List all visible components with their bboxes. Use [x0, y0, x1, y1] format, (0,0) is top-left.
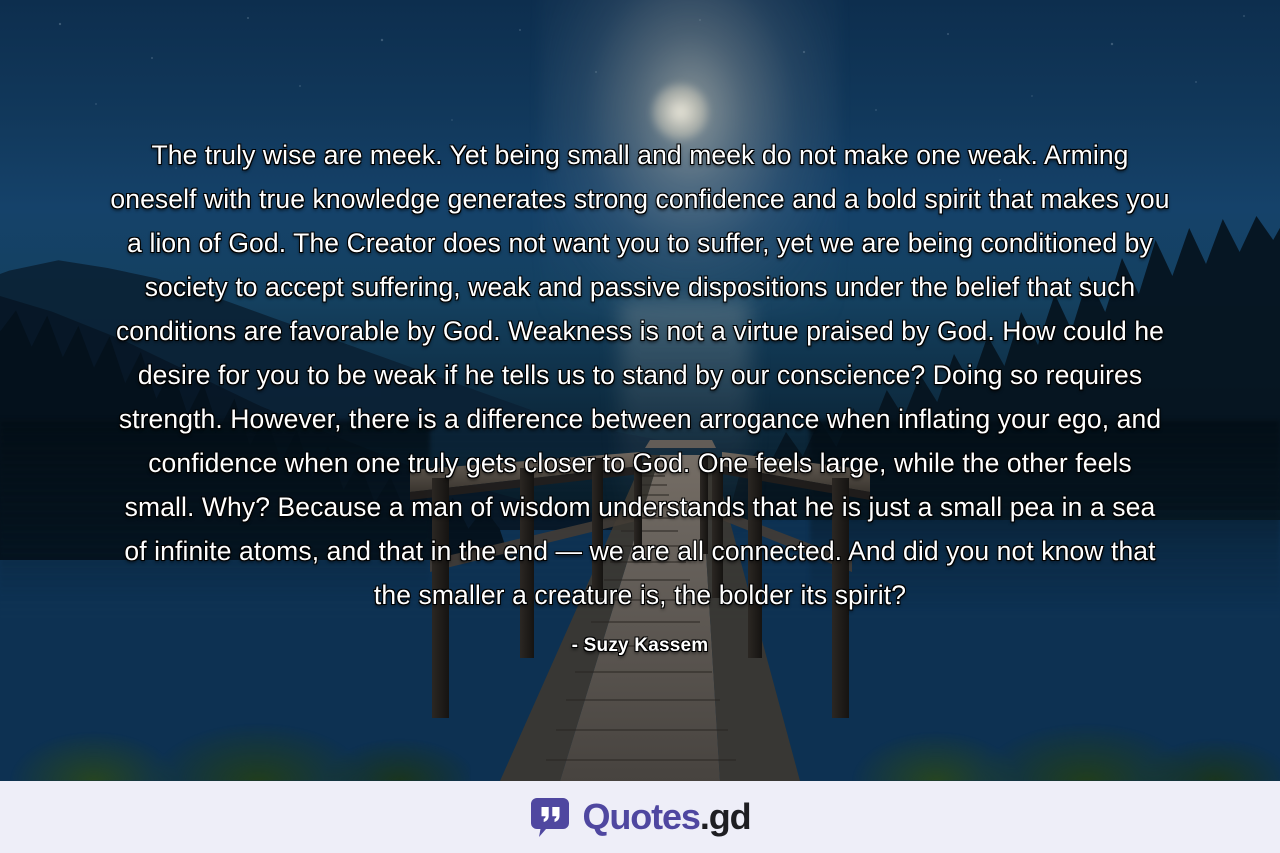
quote-image-page: The truly wise are meek. Yet being small… — [0, 0, 1280, 853]
quote-text: The truly wise are meek. Yet being small… — [110, 133, 1170, 617]
brand-wordmark: Quotes.gd — [582, 799, 750, 835]
background-photo: The truly wise are meek. Yet being small… — [0, 0, 1280, 781]
brand-suffix: .gd — [700, 796, 751, 837]
brand-primary: Quotes — [582, 796, 699, 837]
quote-bubble-icon — [529, 796, 571, 838]
site-footer: Quotes.gd — [0, 781, 1280, 853]
brand-logo[interactable]: Quotes.gd — [529, 796, 750, 838]
quote-overlay: The truly wise are meek. Yet being small… — [0, 0, 1280, 781]
quote-author: - Suzy Kassem — [572, 635, 709, 657]
